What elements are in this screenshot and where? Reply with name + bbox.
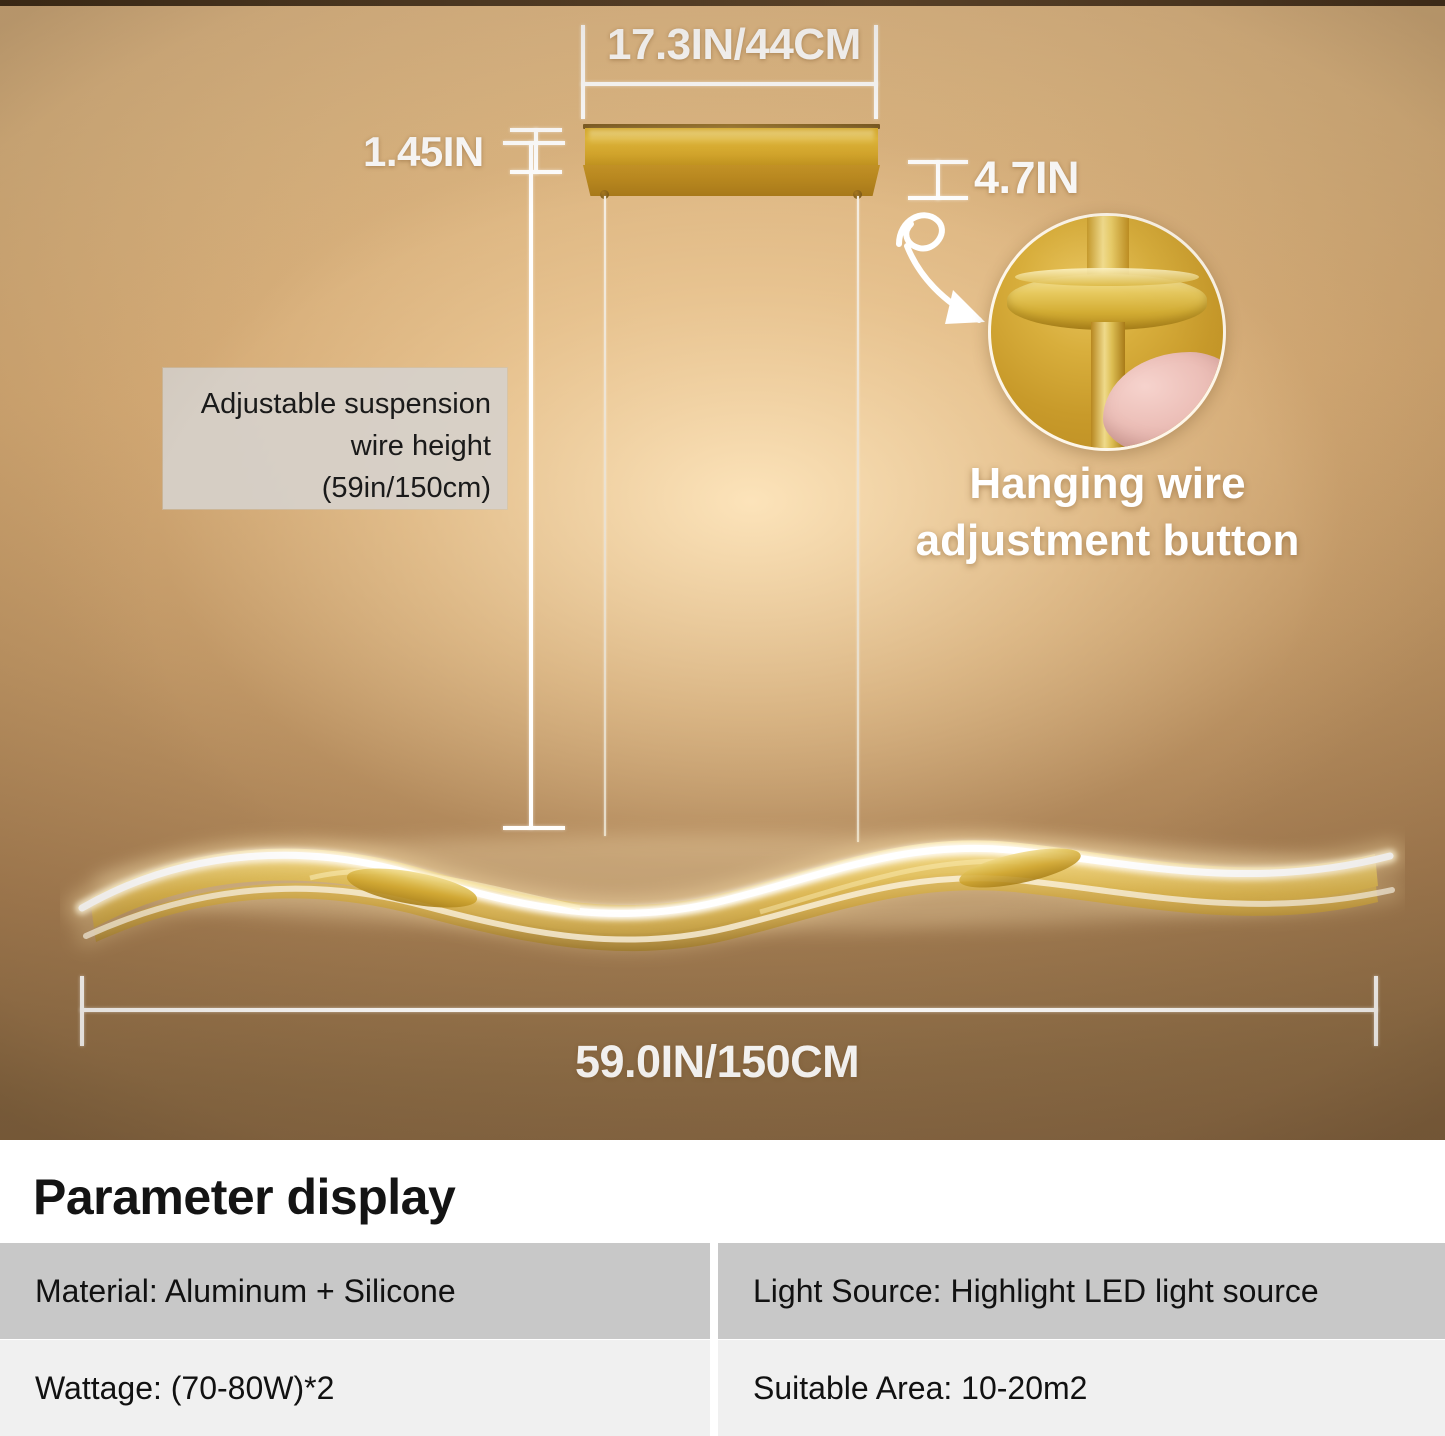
- dim-depth-stem: [936, 160, 940, 200]
- param-cell-suitable-area: Suitable Area: 10-20m2: [718, 1340, 1445, 1436]
- param-material-text: Material: Aluminum + Silicone: [35, 1273, 456, 1310]
- led-pendant-fixture: [60, 790, 1405, 970]
- dim-width-cap-left: [581, 25, 585, 119]
- canopy-sheen: [589, 130, 874, 144]
- callout-caption: Hanging wire adjustment button: [880, 455, 1335, 569]
- suspension-note-line1: Adjustable suspension: [177, 383, 491, 425]
- param-suitable-area-superscript: 2: [1070, 1370, 1088, 1407]
- dim-suspension-line: [529, 141, 533, 829]
- parameter-display-heading: Parameter display: [33, 1168, 455, 1226]
- canopy-bevel: [583, 165, 880, 196]
- product-hero-image: 17.3IN/44CM 1.45IN 4.7IN Adjustable susp…: [0, 0, 1445, 1140]
- dim-fixture-length-label: 59.0IN/150CM: [575, 1036, 859, 1088]
- param-suitable-area-text: Suitable Area: 10-20m: [753, 1370, 1070, 1407]
- dim-canopy-width-label: 17.3IN/44CM: [607, 20, 861, 70]
- dim-height-cap-bottom: [510, 170, 562, 174]
- suspension-wire-left: [604, 196, 606, 836]
- hanging-wire-button-closeup: [988, 213, 1226, 451]
- dim-width-cap-right: [874, 25, 878, 119]
- dim-width-line: [581, 82, 878, 86]
- suspension-note-box: Adjustable suspension wire height (59in/…: [163, 368, 507, 509]
- suspension-note-line3: (59in/150cm): [177, 467, 491, 509]
- dim-height-stem: [534, 128, 538, 174]
- param-cell-light-source: Light Source: Highlight LED light source: [718, 1243, 1445, 1339]
- lamp-illustration: [60, 790, 1405, 970]
- dim-canopy-height-label: 1.45IN: [363, 128, 484, 176]
- callout-caption-line1: Hanging wire: [880, 455, 1335, 512]
- suspension-wire-right: [857, 196, 859, 842]
- callout-caption-line2: adjustment button: [880, 512, 1335, 569]
- top-edge-strip: [0, 0, 1445, 6]
- param-cell-material: Material: Aluminum + Silicone: [0, 1243, 710, 1339]
- ceiling-canopy-plate: [583, 124, 880, 196]
- param-cell-wattage: Wattage: (70-80W)*2: [0, 1340, 710, 1436]
- param-wattage-text: Wattage: (70-80W)*2: [35, 1370, 334, 1407]
- param-light-source-text: Light Source: Highlight LED light source: [753, 1273, 1319, 1310]
- suspension-note-line2: wire height: [177, 425, 491, 467]
- dim-suspension-cap-top: [503, 141, 565, 145]
- dim-length-line: [80, 1008, 1378, 1012]
- dim-canopy-depth-label: 4.7IN: [974, 152, 1079, 204]
- closeup-disc-rim: [1015, 268, 1199, 286]
